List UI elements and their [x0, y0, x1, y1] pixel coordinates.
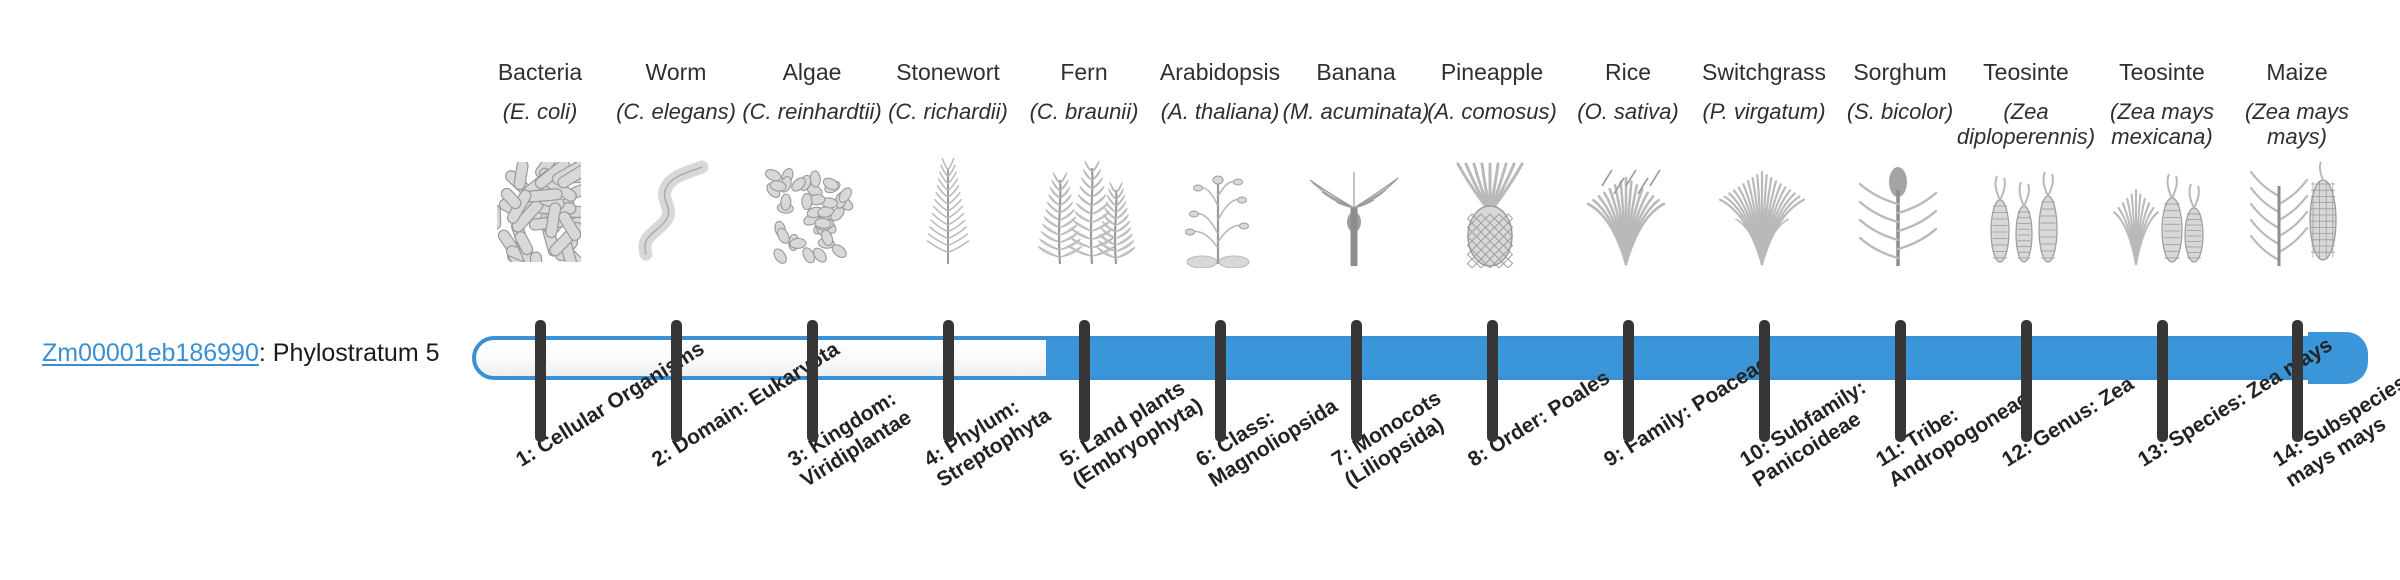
teosinte-ears-illustration — [1964, 158, 2088, 268]
species-columns: Bacteria(E. coli)1: Cellular OrganismsWo… — [0, 0, 2400, 580]
timeline-tick-3 — [807, 320, 818, 442]
maize-illustration — [2235, 158, 2359, 268]
timeline-tick-7 — [1351, 320, 1362, 442]
stonewort-illustration — [886, 158, 1010, 268]
timeline-tick-11 — [1895, 320, 1906, 442]
bacteria-illustration — [478, 158, 602, 268]
timeline-tick-10 — [1759, 320, 1770, 442]
species-scientific-name: (Zea mays mays) — [2215, 100, 2379, 149]
algae-illustration — [750, 158, 874, 268]
rice-illustration — [1566, 158, 1690, 268]
timeline-tick-6 — [1215, 320, 1226, 442]
fern-illustration — [1022, 158, 1146, 268]
timeline-tick-5 — [1079, 320, 1090, 442]
arabidopsis-illustration — [1158, 158, 1282, 268]
worm-illustration — [614, 158, 738, 268]
species-common-name: Maize — [2211, 60, 2383, 86]
teosinte-mexicana-illustration — [2100, 158, 2224, 268]
sorghum-illustration — [1838, 158, 1962, 268]
timeline-tick-13 — [2157, 320, 2168, 442]
banana-illustration — [1294, 158, 1418, 268]
timeline-tick-8 — [1487, 320, 1498, 442]
timeline-tick-1 — [535, 320, 546, 442]
timeline-tick-12 — [2021, 320, 2032, 442]
timeline-tick-4 — [943, 320, 954, 442]
timeline-tick-14 — [2292, 320, 2303, 442]
timeline-tick-9 — [1623, 320, 1634, 442]
timeline-tick-2 — [671, 320, 682, 442]
switchgrass-illustration — [1702, 158, 1826, 268]
pineapple-illustration — [1430, 158, 1554, 268]
